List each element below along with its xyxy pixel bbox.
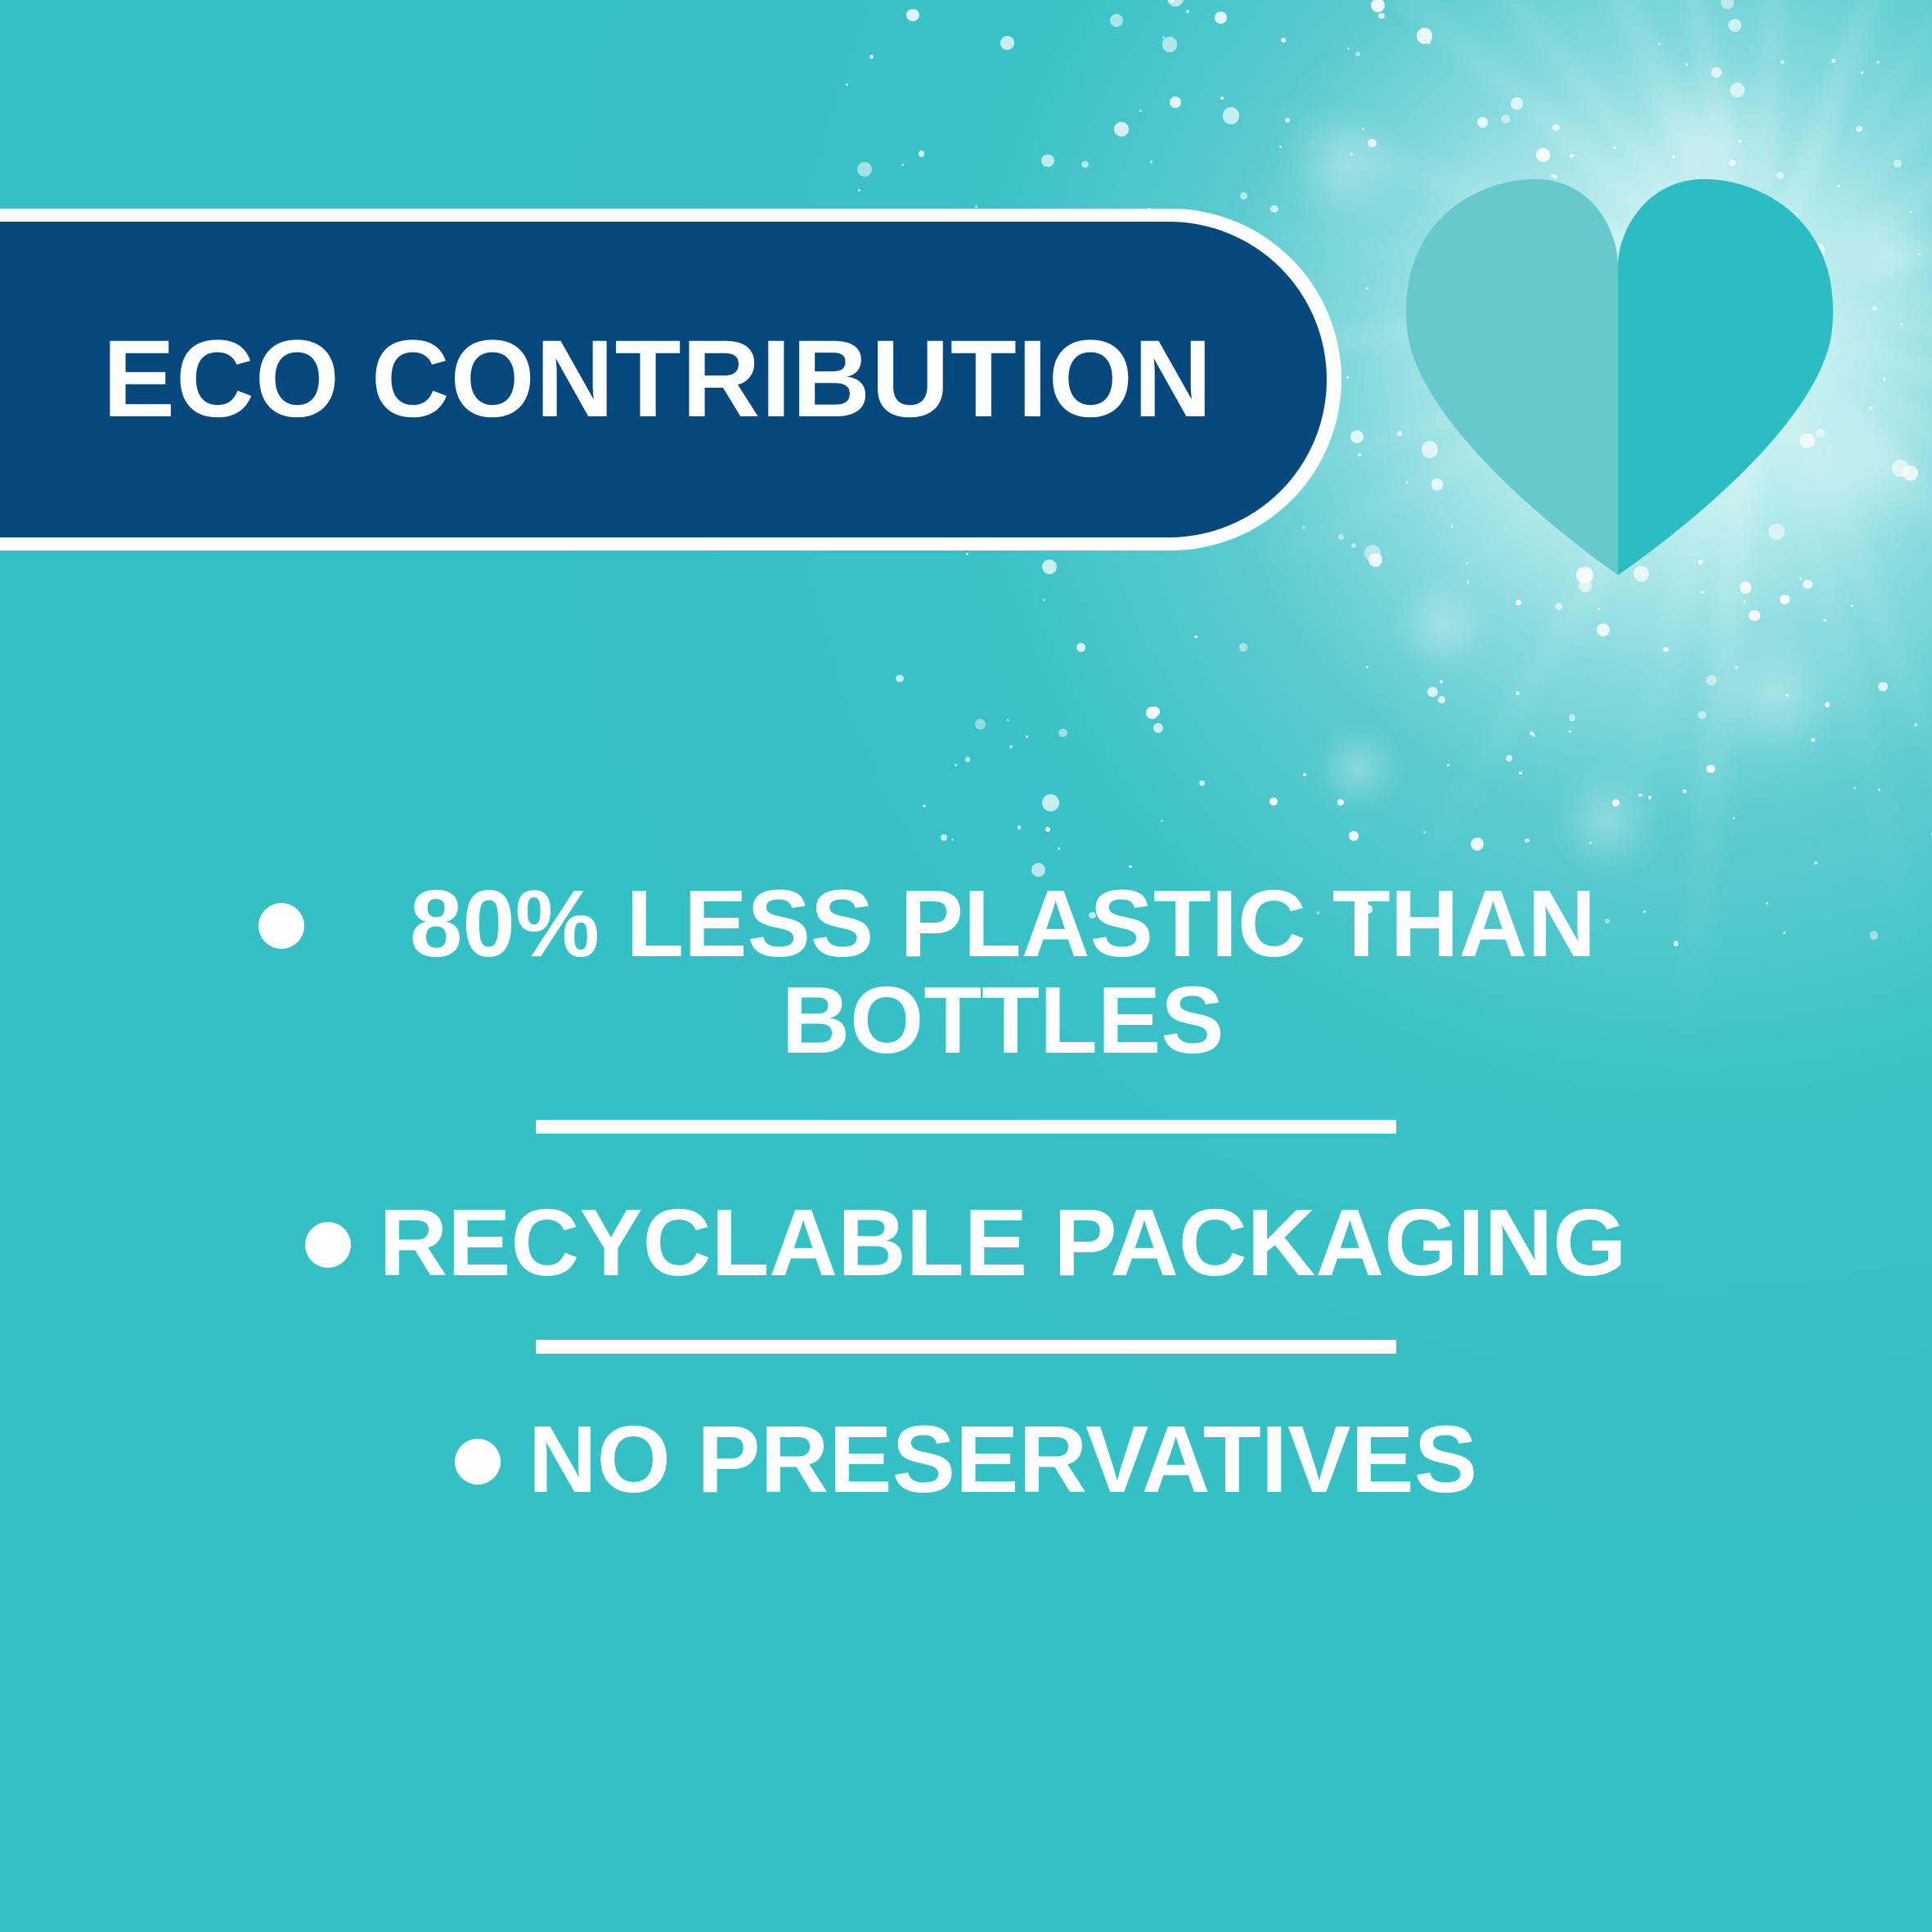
sparkle-dot: [1821, 290, 1823, 292]
sparkle-dot: [1816, 429, 1825, 438]
light-ray: [1745, 0, 1932, 308]
sparkle-dot: [1633, 566, 1649, 582]
sparkle-dot: [1281, 38, 1286, 43]
bullet-dot-icon: [258, 903, 304, 949]
sparkle-dot: [1653, 315, 1660, 321]
light-ray: [1410, 0, 1772, 309]
sparkle-dot: [1589, 842, 1592, 844]
sparkle-dot: [1347, 47, 1350, 50]
sparkle-dot: [1451, 525, 1453, 528]
sparkle-dot: [1007, 719, 1009, 721]
sparkle-dot: [1713, 372, 1726, 385]
sparkle-dot: [1856, 126, 1862, 132]
sparkle-dot: [1018, 825, 1022, 829]
sparkle-dot: [1648, 796, 1651, 799]
sparkle-dot: [1161, 820, 1163, 822]
sparkle-dot: [1239, 643, 1248, 652]
sparkle-dot: [1162, 37, 1178, 52]
sparkle-dot: [1438, 696, 1445, 703]
sparkle-dot: [1194, 636, 1197, 638]
sparkle-dot: [1604, 415, 1607, 418]
sparkle-dot: [1215, 11, 1227, 24]
sparkle-dot: [1780, 595, 1790, 604]
light-ray: [1754, 0, 1932, 306]
sparkle-dot: [1568, 430, 1573, 435]
bokeh-circle: [1832, 196, 1932, 311]
sparkle-dot: [1569, 714, 1576, 721]
sparkle-dot: [1427, 687, 1438, 698]
sparkle-dot: [1466, 562, 1468, 564]
sparkle-dot: [1516, 600, 1522, 606]
sparkle-dot: [1081, 161, 1088, 168]
sparkle-dot: [1781, 61, 1784, 64]
sparkle-dot: [1593, 529, 1609, 545]
sparkle-dot: [1586, 376, 1590, 380]
feature-label-preservatives: NO PRESERVATIVES: [528, 1411, 1477, 1507]
sparkle-dot: [1364, 545, 1381, 561]
sparkle-dot: [1285, 118, 1291, 124]
sparkle-dot: [1597, 260, 1610, 272]
sparkle-dot: [1665, 408, 1668, 411]
sparkle-dot: [975, 205, 977, 208]
sparkle-dot: [1110, 14, 1123, 27]
sparkle-dot: [1150, 160, 1153, 164]
sparkle-dot: [1892, 460, 1909, 477]
sparkle-dot: [1269, 798, 1278, 806]
sparkle-dot: [1303, 773, 1306, 776]
feature-label-packaging: RECYCLABLE PACKAGING: [379, 1194, 1626, 1291]
sparkle-dot: [1743, 600, 1746, 603]
sparkle-dot: [965, 757, 970, 762]
light-ray: [1753, 289, 1932, 572]
sparkle-dot: [1397, 431, 1401, 435]
eco-contribution-graphic: ECO CONTRIBUTION 80% LESS PLASTIC THAN B…: [0, 0, 1932, 1932]
sparkle-dot: [1735, 666, 1738, 669]
sparkle-dot: [1728, 19, 1741, 32]
sparkle-dot: [1872, 306, 1877, 311]
sparkle-dot: [1711, 67, 1723, 79]
sparkle-dot: [1569, 730, 1571, 733]
feature-item-preservatives: NO PRESERVATIVES: [0, 1411, 1932, 1507]
sparkle-dot: [1162, 36, 1165, 38]
sparkle-dot: [1672, 155, 1676, 160]
sparkle-dot: [1730, 83, 1745, 97]
sparkle-dot: [1918, 253, 1921, 255]
sparkle-dot: [1041, 155, 1054, 167]
sparkle-dot: [1714, 339, 1716, 342]
sparkle-dot: [1732, 817, 1735, 820]
sparkle-dot: [1530, 731, 1534, 735]
sparkle-dot: [1551, 174, 1555, 178]
sparkle-dot: [1566, 403, 1581, 419]
sparkle-dot: [1811, 738, 1815, 742]
sparkle-dot: [1853, 787, 1857, 790]
sparkle-dot: [1786, 225, 1796, 236]
sparkle-dot: [1000, 36, 1014, 50]
sparkle-dot: [1139, 110, 1142, 112]
sparkle-dot: [1740, 582, 1752, 594]
sparkle-dot: [1170, 97, 1181, 108]
sparkle-dot: [1786, 694, 1789, 697]
bokeh-circle: [1783, 384, 1932, 548]
sparkle-dot: [1703, 377, 1718, 392]
sparkle-dot: [1613, 146, 1616, 150]
sparkle-dot: [1883, 377, 1886, 380]
sparkle-dot: [1831, 308, 1834, 311]
sparkle-dot: [1553, 175, 1557, 179]
sparkle-dot: [1642, 349, 1649, 357]
sparkle-dot: [1043, 599, 1045, 601]
sparkle-dot: [1355, 52, 1360, 56]
eco-contribution-banner: ECO CONTRIBUTION: [0, 209, 1341, 550]
sparkle-dot: [1471, 838, 1484, 851]
sparkle-dot: [1223, 107, 1240, 124]
light-ray: [1750, 0, 1932, 317]
sparkle-dot: [1698, 711, 1706, 719]
sparkle-dot: [1167, 0, 1184, 7]
feature-item-plastic: 80% LESS PLASTIC THAN BOTTLES: [0, 875, 1932, 1069]
sparkle-dot: [1076, 643, 1085, 652]
banner-body: ECO CONTRIBUTION: [0, 222, 1327, 537]
sparkle-dot: [1723, 420, 1726, 424]
sparkle-dot: [1663, 647, 1669, 653]
sparkle-dot: [1431, 479, 1444, 491]
light-ray: [1748, 294, 1932, 846]
sparkle-dot: [1362, 128, 1364, 130]
sparkle-dot: [1659, 365, 1661, 367]
sparkle-dot: [1199, 780, 1205, 786]
light-ray: [1332, 0, 1767, 309]
sparkle-dot: [1009, 745, 1013, 748]
sparkle-dot: [1484, 436, 1487, 439]
sparkle-dot: [951, 838, 954, 841]
sparkle-dot: [1810, 243, 1825, 258]
sparkle-dot: [1555, 603, 1563, 611]
sparkle-dot: [1368, 139, 1377, 148]
sparkle-dot: [1417, 28, 1433, 44]
feature-divider-2: [536, 1340, 1396, 1354]
sparkle-dot: [1563, 356, 1579, 372]
sparkle-dot: [1337, 799, 1345, 806]
sparkle-dot: [1168, 0, 1175, 2]
sparkle-dot: [1511, 97, 1522, 109]
sparkle-dot: [1501, 115, 1510, 124]
sparkle-dot: [1685, 63, 1688, 66]
sparkle-dot: [901, 164, 904, 166]
sparkle-dot: [1649, 330, 1651, 332]
sparkle-dot: [1129, 865, 1132, 869]
sparkle-dot: [1421, 28, 1429, 36]
sparkle-dot: [1910, 211, 1912, 213]
sparkle-dot: [906, 9, 919, 21]
sparkle-dot: [1366, 666, 1368, 668]
sparkle-dot: [1851, 604, 1853, 607]
sparkle-dot: [1494, 434, 1496, 437]
sparkle-dot: [858, 189, 860, 191]
sparkle-dot: [1447, 764, 1449, 766]
sparkle-dot: [1440, 680, 1444, 684]
sparkle-dot: [1570, 154, 1574, 158]
split-heart-icon: [1391, 168, 1849, 577]
sparkle-dot: [1146, 707, 1158, 719]
bokeh-circle: [1620, 57, 1791, 229]
sparkle-dot: [1803, 580, 1813, 590]
sparkle-dot: [1869, 407, 1872, 410]
sparkle-dot: [1413, 298, 1418, 303]
sparkle-dot: [1903, 465, 1918, 481]
sparkle-dot: [1721, 269, 1728, 276]
sparkle-dot: [1516, 691, 1520, 695]
sparkle-dot: [1814, 861, 1817, 865]
light-ray: [1751, 293, 1932, 689]
sparkle-dot: [1721, 0, 1734, 9]
sparkle-dot: [1861, 71, 1864, 74]
sparkle-dot: [1698, 559, 1703, 564]
sparkle-dot: [1240, 192, 1247, 200]
sparkle-dot: [1552, 124, 1559, 131]
sparkle-dot: [1606, 512, 1612, 519]
sparkle-dot: [1894, 160, 1902, 168]
bokeh-circle: [1391, 573, 1497, 679]
sparkle-dot: [1768, 342, 1770, 344]
sparkle-dot: [1758, 271, 1760, 273]
sparkle-dot: [1831, 59, 1835, 63]
sparkle-dot: [1799, 434, 1815, 449]
light-ray: [1572, 0, 1769, 305]
sparkle-dot: [1505, 357, 1507, 359]
sparkle-dot: [1042, 559, 1057, 574]
sparkle-dot: [1519, 771, 1522, 775]
sparkle-dot: [1464, 367, 1469, 372]
sparkle-dot: [1422, 441, 1438, 457]
sparkle-dot: [869, 55, 874, 59]
feature-item-packaging: RECYCLABLE PACKAGING: [0, 1194, 1932, 1291]
sparkle-dot: [1706, 765, 1715, 774]
sparkle-dot: [1579, 579, 1592, 592]
sparkle-dot: [1578, 298, 1581, 301]
sparkle-dot: [1525, 838, 1530, 843]
sparkle-dot: [1493, 250, 1507, 265]
sparkle-dot: [1597, 608, 1600, 610]
sparkle-dot: [846, 83, 848, 86]
sparkle-dot: [1427, 41, 1431, 44]
sparkle-dot: [1804, 370, 1806, 372]
light-ray: [1757, 291, 1932, 419]
sparkle-dot: [1058, 729, 1067, 738]
light-ray: [1746, 0, 1932, 313]
bokeh-circle: [1276, 98, 1415, 237]
sparkle-dot: [1368, 553, 1382, 567]
bullet-dot-icon: [455, 1439, 501, 1485]
sparkle-dot: [1737, 474, 1739, 476]
sparkle-dot: [1544, 371, 1548, 375]
sparkle-dot: [1279, 146, 1282, 148]
sparkle-dot: [1597, 623, 1611, 637]
sparkle-dot: [857, 162, 872, 177]
sparkle-dot: [1423, 831, 1426, 833]
page-title: ECO CONTRIBUTION: [0, 325, 1213, 434]
sparkle-dot: [1346, 376, 1349, 379]
sparkle-dot: [1530, 349, 1532, 352]
sparkle-dot: [1350, 153, 1353, 155]
sparkle-dot: [1790, 212, 1798, 219]
sparkle-dot: [1350, 430, 1364, 443]
sparkle-dot: [1768, 523, 1785, 540]
sparkle-dot: [1658, 43, 1660, 45]
sparkle-dot: [1042, 794, 1059, 811]
sparkle-dot: [1878, 682, 1887, 691]
feature-divider-1: [536, 1120, 1396, 1134]
sparkle-dot: [1358, 453, 1361, 456]
sparkle-dot: [1477, 117, 1488, 128]
sparkle-dot: [1729, 160, 1736, 166]
feature-list: 80% LESS PLASTIC THAN BOTTLES RECYCLABLE…: [0, 875, 1932, 1507]
sparkle-dot: [955, 764, 957, 766]
sparkle-dot: [923, 805, 925, 807]
sparkle-dot: [1590, 285, 1594, 289]
sparkle-dot: [1837, 185, 1840, 187]
sparkle-dot: [1557, 492, 1569, 504]
sparkle-dot: [1575, 234, 1584, 243]
light-ray: [1746, 0, 1804, 303]
sparkle-dot: [1615, 354, 1629, 368]
sparkle-dot: [1153, 723, 1163, 733]
sparkle-dot: [1150, 707, 1160, 717]
sparkle-dot: [1545, 479, 1552, 486]
sparkle-dot: [1026, 735, 1028, 738]
sparkle-dot: [1878, 789, 1880, 791]
sparkle-dot: [1612, 799, 1620, 806]
bullet-dot-icon: [305, 1222, 351, 1268]
sparkle-dot: [1701, 591, 1704, 594]
sparkle-dot: [1723, 258, 1730, 266]
sparkle-dot: [975, 719, 986, 730]
sparkle-dot: [1467, 581, 1469, 583]
sparkle-dot: [1406, 481, 1409, 484]
light-ray: [1390, 296, 1769, 910]
sparkle-dot: [1716, 491, 1719, 493]
sparkle-dot: [1876, 61, 1880, 64]
sparkle-dot: [1799, 577, 1802, 580]
light-ray: [1755, 129, 1932, 315]
light-ray: [1759, 278, 1932, 312]
sparkle-dot: [1338, 534, 1344, 540]
sparkle-dot: [1302, 526, 1305, 529]
sparkle-dot: [1520, 443, 1525, 447]
sparkle-dot: [1738, 140, 1741, 143]
sparkle-dot: [1648, 299, 1660, 312]
sparkle-dot: [1900, 323, 1903, 326]
sparkle-dot: [1545, 452, 1548, 455]
sparkle-dot: [1823, 619, 1826, 622]
sparkle-dot: [1114, 122, 1129, 137]
sparkle-dot: [896, 675, 904, 683]
bokeh-circle: [1546, 761, 1669, 883]
sparkle-dot: [1220, 97, 1224, 100]
sparkle-dot: [1351, 543, 1356, 548]
sparkle-dot: [1576, 567, 1593, 584]
sparkle-dot: [919, 151, 925, 157]
sparkle-dot: [1683, 789, 1687, 793]
feature-label-plastic: 80% LESS PLASTIC THAN BOTTLES: [332, 875, 1674, 1069]
sparkle-dot: [1665, 341, 1669, 346]
sparkle-dot: [1706, 675, 1718, 686]
bokeh-circle: [1309, 720, 1407, 818]
sparkle-dot: [1638, 793, 1642, 797]
sparkle-dot: [1777, 172, 1784, 179]
sparkle-dot: [1602, 413, 1610, 420]
sparkle-dot: [941, 834, 946, 840]
sparkle-dot: [1749, 610, 1759, 621]
sparkle-dot: [1659, 250, 1664, 255]
light-ray: [1603, 299, 1772, 860]
sparkle-dot: [1642, 573, 1645, 577]
bokeh-circle: [1701, 622, 1849, 769]
sparkle-dot: [1532, 734, 1535, 737]
sparkle-dot: [1371, 0, 1386, 12]
sparkle-dot: [1536, 148, 1550, 162]
sparkle-dot: [1058, 847, 1060, 850]
sparkle-dot: [1366, 287, 1368, 290]
sparkle-dot: [1186, 10, 1189, 13]
sparkle-dot: [1378, 13, 1385, 20]
sparkle-dot: [1270, 205, 1278, 213]
sparkle-dot: [1045, 827, 1050, 832]
sparkle-dot: [1506, 755, 1512, 762]
sparkle-dot: [1710, 357, 1719, 367]
sparkle-dot: [1914, 723, 1918, 727]
sparkle-dot: [1652, 326, 1655, 328]
sparkle-dot: [1825, 702, 1831, 708]
sparkle-dot: [1349, 831, 1359, 841]
sparkle-dot: [966, 553, 968, 555]
